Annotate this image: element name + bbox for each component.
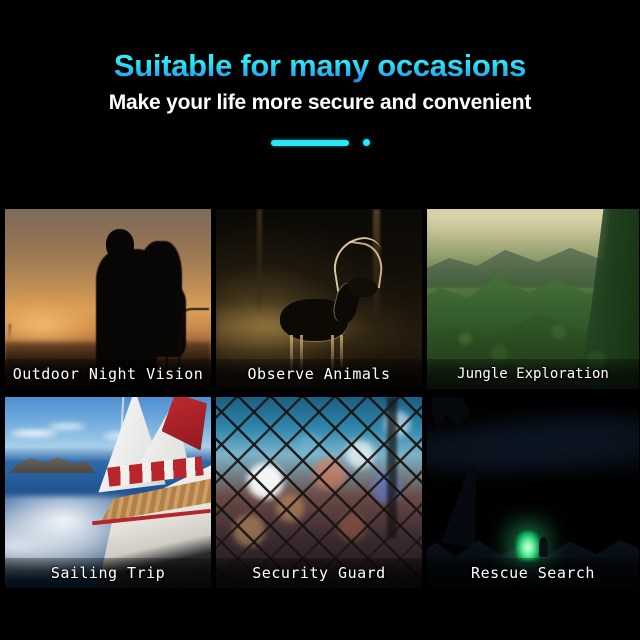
pagination-active-bar[interactable] — [271, 140, 349, 146]
gallery-caption: Sailing Trip — [5, 558, 211, 588]
page-title: Suitable for many occasions — [0, 50, 640, 83]
gallery-caption: Rescue Search — [427, 558, 639, 588]
gallery-caption: Security Guard — [216, 558, 422, 588]
gallery-caption: Jungle Exploration — [427, 359, 639, 389]
carousel-pagination[interactable] — [0, 138, 640, 148]
header: Suitable for many occasions Make your li… — [0, 0, 640, 148]
gallery-cell-sailing-trip[interactable]: Sailing Trip — [5, 397, 211, 588]
gallery-cell-security-guard[interactable]: Security Guard — [216, 397, 422, 588]
gallery-cell-rescue-search[interactable]: Rescue Search — [427, 397, 639, 588]
gallery-cell-outdoor-night-vision[interactable]: Outdoor Night Vision — [5, 209, 211, 389]
gallery-cell-observe-animals[interactable]: Observe Animals — [216, 209, 422, 389]
occasion-gallery-grid: Outdoor Night Vision Observe Animals — [5, 209, 640, 588]
gallery-cell-jungle-exploration[interactable]: Jungle Exploration — [427, 209, 639, 389]
pagination-dot[interactable] — [363, 139, 370, 146]
gallery-caption: Outdoor Night Vision — [5, 359, 211, 389]
gallery-caption: Observe Animals — [216, 359, 422, 389]
page-subtitle: Make your life more secure and convenien… — [0, 91, 640, 114]
